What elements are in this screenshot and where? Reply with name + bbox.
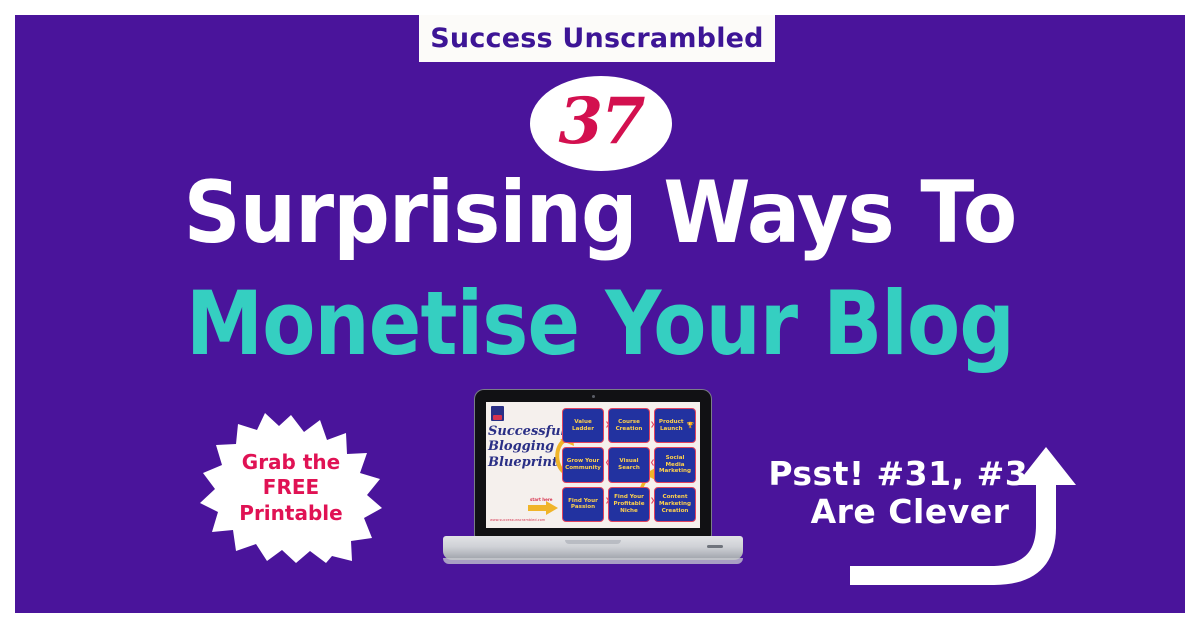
webcam-icon bbox=[592, 395, 595, 398]
blueprint-grid: Value Ladder Course Creation Product Lau… bbox=[562, 408, 696, 522]
grid-cell-label: Product Launch bbox=[656, 419, 687, 432]
free-printable-burst[interactable]: Grab the FREE Printable bbox=[200, 413, 382, 563]
grid-cell[interactable]: Find Your Passion bbox=[562, 487, 604, 522]
blueprint-title-line2: Blogging bbox=[488, 439, 560, 454]
chevron-right-icon: ❯ bbox=[650, 421, 655, 428]
laptop-foot bbox=[443, 558, 743, 564]
purple-canvas: Success Unscrambled 37 Surprising Ways T… bbox=[15, 15, 1185, 613]
grid-cell-label: Social Media Marketing bbox=[656, 455, 694, 475]
number-badge-value: 37 bbox=[558, 90, 643, 154]
start-arrow-icon bbox=[528, 501, 558, 515]
trophy-icon: 🏆 bbox=[687, 423, 694, 429]
laptop-lid: Successful Blogging Blueprint start here bbox=[475, 390, 711, 538]
blueprint-infographic: Successful Blogging Blueprint start here bbox=[486, 402, 700, 528]
grid-cell[interactable]: Find Your Profitable Niche bbox=[608, 487, 650, 522]
burst-text-group: Grab the FREE Printable bbox=[200, 413, 382, 563]
tease-note-line1: Psst! #31, #34 bbox=[760, 455, 1060, 493]
chevron-right-icon: ❯ bbox=[605, 497, 610, 504]
chevron-right-icon: ❯ bbox=[605, 421, 610, 428]
grid-cell-label: Content Marketing Creation bbox=[656, 494, 694, 514]
headline-line2: Monetise Your Blog bbox=[85, 280, 1115, 368]
chevron-right-icon: ❯ bbox=[650, 497, 655, 504]
grid-cell[interactable]: Product Launch🏆 bbox=[654, 408, 696, 443]
burst-line3: Printable bbox=[239, 501, 342, 527]
chevron-left-icon: ❮ bbox=[650, 459, 655, 466]
grid-cell[interactable]: Content Marketing Creation bbox=[654, 487, 696, 522]
grid-cell-label: Course Creation bbox=[610, 419, 648, 432]
headline-line1: Surprising Ways To bbox=[62, 170, 1138, 256]
tease-note: Psst! #31, #34 Are Clever bbox=[760, 455, 1060, 532]
number-badge: 37 bbox=[530, 76, 672, 171]
grid-cell-label: Find Your Profitable Niche bbox=[610, 494, 648, 514]
laptop-screen: Successful Blogging Blueprint start here bbox=[486, 402, 700, 528]
blueprint-title: Successful Blogging Blueprint bbox=[488, 424, 560, 470]
pinterest-graphic: Success Unscrambled 37 Surprising Ways T… bbox=[0, 0, 1200, 628]
blueprint-logo-icon bbox=[491, 406, 504, 421]
grid-cell[interactable]: Social Media Marketing bbox=[654, 447, 696, 482]
brand-name: Success Unscrambled bbox=[430, 23, 763, 54]
laptop-indicator bbox=[707, 545, 723, 548]
grid-cell-label: Value Ladder bbox=[564, 419, 602, 432]
blueprint-title-line1: Successful bbox=[488, 424, 560, 439]
tease-note-line2: Are Clever bbox=[760, 493, 1060, 531]
brand-banner: Success Unscrambled bbox=[419, 15, 775, 62]
grid-cell[interactable]: Course Creation bbox=[608, 408, 650, 443]
grid-cell[interactable]: Visual Search bbox=[608, 447, 650, 482]
grid-cell-label: Find Your Passion bbox=[564, 498, 602, 511]
grid-cell-label: Grow Your Community bbox=[564, 458, 602, 471]
grid-cell[interactable]: Grow Your Community bbox=[562, 447, 604, 482]
grid-cell-label: Visual Search bbox=[610, 458, 648, 471]
burst-line2: FREE bbox=[263, 475, 319, 501]
laptop-mockup: Successful Blogging Blueprint start here bbox=[443, 390, 743, 575]
chevron-left-icon: ❮ bbox=[605, 459, 610, 466]
blueprint-title-line3: Blueprint bbox=[488, 455, 560, 470]
burst-line1: Grab the bbox=[242, 450, 340, 476]
blueprint-url: www.successunscrambled.com bbox=[490, 518, 564, 522]
grid-cell[interactable]: Value Ladder bbox=[562, 408, 604, 443]
laptop-notch bbox=[565, 540, 621, 544]
